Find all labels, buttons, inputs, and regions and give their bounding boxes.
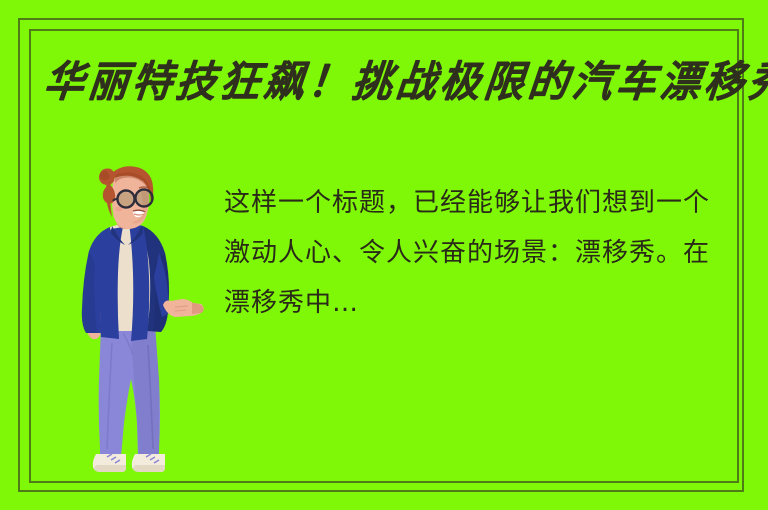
poster-title: 华丽特技狂飙！挑战极限的汽车漂移秀 (41, 54, 737, 109)
poster-body-text: 这样一个标题，已经能够让我们想到一个激动人心、令人兴奋的场景：漂移秀。在漂移秀中… (224, 178, 724, 328)
standing-person-illustration (55, 165, 205, 485)
poster-canvas: 华丽特技狂飙！挑战极限的汽车漂移秀 这样一个标题，已经能够让我们想到一个激动人心… (0, 0, 768, 510)
